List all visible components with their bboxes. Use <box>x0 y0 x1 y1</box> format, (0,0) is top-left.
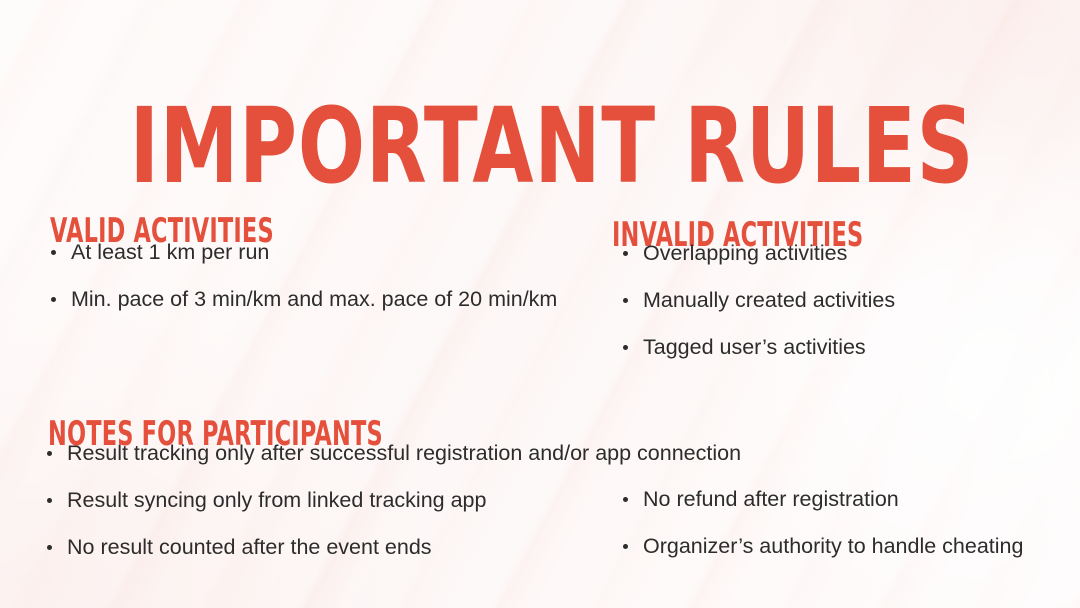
list-item-label: At least 1 km per run <box>71 240 269 264</box>
list-item-label: Overlapping activities <box>643 241 847 265</box>
list-item-label: Manually created activities <box>643 288 895 312</box>
bullet-dot-icon <box>623 345 628 350</box>
list-item-label: Min. pace of 3 min/km and max. pace of 2… <box>71 287 557 311</box>
list-item-label: Result tracking only after successful re… <box>67 441 741 465</box>
bullet-dot-icon <box>623 298 628 303</box>
bullet-dot-icon <box>623 497 628 502</box>
bullet-dot-icon <box>51 297 56 302</box>
list-item: Min. pace of 3 min/km and max. pace of 2… <box>48 286 557 312</box>
list-item-label: Tagged user’s activities <box>643 335 866 359</box>
list-item: Result tracking only after successful re… <box>44 440 741 466</box>
bullet-dot-icon <box>47 451 52 456</box>
bullet-dot-icon <box>623 544 628 549</box>
page-title: IMPORTANT RULES <box>130 94 951 198</box>
list-item-label: Result syncing only from linked tracking… <box>67 488 486 512</box>
bullet-dot-icon <box>47 498 52 503</box>
list-item: Tagged user’s activities <box>620 334 895 360</box>
list-item-label: No result counted after the event ends <box>67 535 432 559</box>
list-item: Organizer’s authority to handle cheating <box>620 533 1023 559</box>
bullet-dot-icon <box>623 251 628 256</box>
bullet-dot-icon <box>51 250 56 255</box>
list-item-label: Organizer’s authority to handle cheating <box>643 534 1023 558</box>
list-item: At least 1 km per run <box>48 239 557 265</box>
list-item-label: No refund after registration <box>643 487 899 511</box>
invalid-activities-list: Overlapping activities Manually created … <box>620 240 895 360</box>
bullet-dot-icon <box>47 545 52 550</box>
slide-canvas: IMPORTANT RULES VALID ACTIVITIES At leas… <box>0 0 1080 608</box>
valid-activities-list: At least 1 km per run Min. pace of 3 min… <box>48 239 557 312</box>
notes-secondary-list: No refund after registration Organizer’s… <box>620 486 1023 559</box>
list-item: Overlapping activities <box>620 240 895 266</box>
list-item: No refund after registration <box>620 486 1023 512</box>
list-item: Manually created activities <box>620 287 895 313</box>
